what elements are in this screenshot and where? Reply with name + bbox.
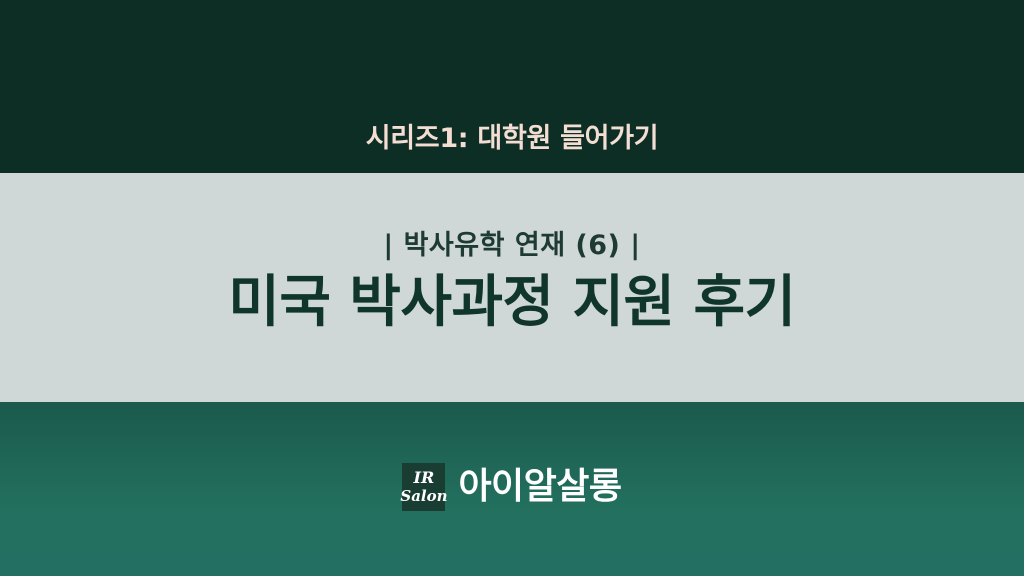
- series-banner: 시리즈1: 대학원 들어가기: [0, 0, 1024, 173]
- title-panel: | 박사유학 연재 (6) | 미국 박사과정 지원 후기: [0, 173, 1024, 402]
- ir-salon-logo-icon: IR Salon: [402, 463, 445, 511]
- page-title: 미국 박사과정 지원 후기: [228, 271, 795, 335]
- brand-lockup: IR Salon 아이알살롱: [402, 463, 621, 511]
- series-label: 시리즈1: 대학원 들어가기: [366, 123, 659, 155]
- brand-footer: IR Salon 아이알살롱: [0, 402, 1024, 576]
- title-card-slide: 시리즈1: 대학원 들어가기 | 박사유학 연재 (6) | 미국 박사과정 지…: [0, 0, 1024, 576]
- brand-name: 아이알살롱: [458, 469, 621, 505]
- logo-top-text: IR: [414, 470, 435, 486]
- subtitle-label: | 박사유학 연재 (6) |: [383, 229, 640, 263]
- logo-bottom-text: Salon: [400, 489, 447, 504]
